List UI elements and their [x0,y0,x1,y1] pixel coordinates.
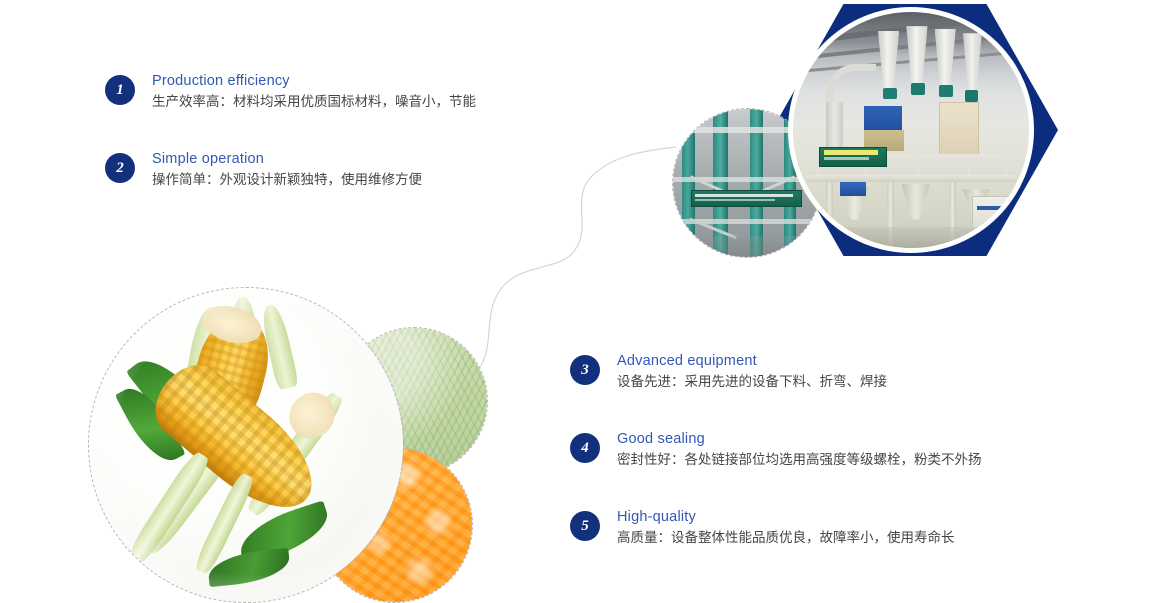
feature-item-1[interactable]: 1 Production efficiency 生产效率高：材料均采用优质国标材… [105,75,476,112]
flour-milling-machine-photo [793,12,1029,248]
corn-cob-photo [88,287,404,603]
feature-text-5: High-quality 高质量：设备整体性能品质优良，故障率小，使用寿命长 [617,508,955,548]
feature-item-3[interactable]: 3 Advanced equipment 设备先进：采用先进的设备下料、折弯、焊… [570,355,887,392]
feature-desc-4: 密封性好：各处链接部位均选用高强度等级螺栓，粉类不外扬 [617,450,982,470]
feature-text-2: Simple operation 操作简单：外观设计新颖独特，使用维修方便 [152,150,422,190]
feature-text-4: Good sealing 密封性好：各处链接部位均选用高强度等级螺栓，粉类不外扬 [617,430,982,470]
feature-title-3: Advanced equipment [617,352,887,371]
feature-title-5: High-quality [617,508,955,527]
feature-title-1: Production efficiency [152,72,476,91]
feature-title-2: Simple operation [152,150,422,169]
feature-item-2[interactable]: 2 Simple operation 操作简单：外观设计新颖独特，使用维修方便 [105,153,422,190]
feature-desc-2: 操作简单：外观设计新颖独特，使用维修方便 [152,170,422,190]
feature-text-3: Advanced equipment 设备先进：采用先进的设备下料、折弯、焊接 [617,352,887,392]
feature-text-1: Production efficiency 生产效率高：材料均采用优质国标材料，… [152,72,476,112]
feature-badge-2: 2 [105,153,135,183]
feature-title-4: Good sealing [617,430,982,449]
feature-badge-4: 4 [570,433,600,463]
feature-badge-3: 3 [570,355,600,385]
feature-infographic: 1 Production efficiency 生产效率高：材料均采用优质国标材… [0,0,1154,591]
feature-desc-3: 设备先进：采用先进的设备下料、折弯、焊接 [617,372,887,392]
feature-desc-1: 生产效率高：材料均采用优质国标材料，噪音小，节能 [152,92,476,112]
feature-badge-5: 5 [570,511,600,541]
feature-badge-1: 1 [105,75,135,105]
feature-item-4[interactable]: 4 Good sealing 密封性好：各处链接部位均选用高强度等级螺栓，粉类不… [570,433,982,470]
feature-item-5[interactable]: 5 High-quality 高质量：设备整体性能品质优良，故障率小，使用寿命长 [570,511,955,548]
feature-desc-5: 高质量：设备整体性能品质优良，故障率小，使用寿命长 [617,528,955,548]
